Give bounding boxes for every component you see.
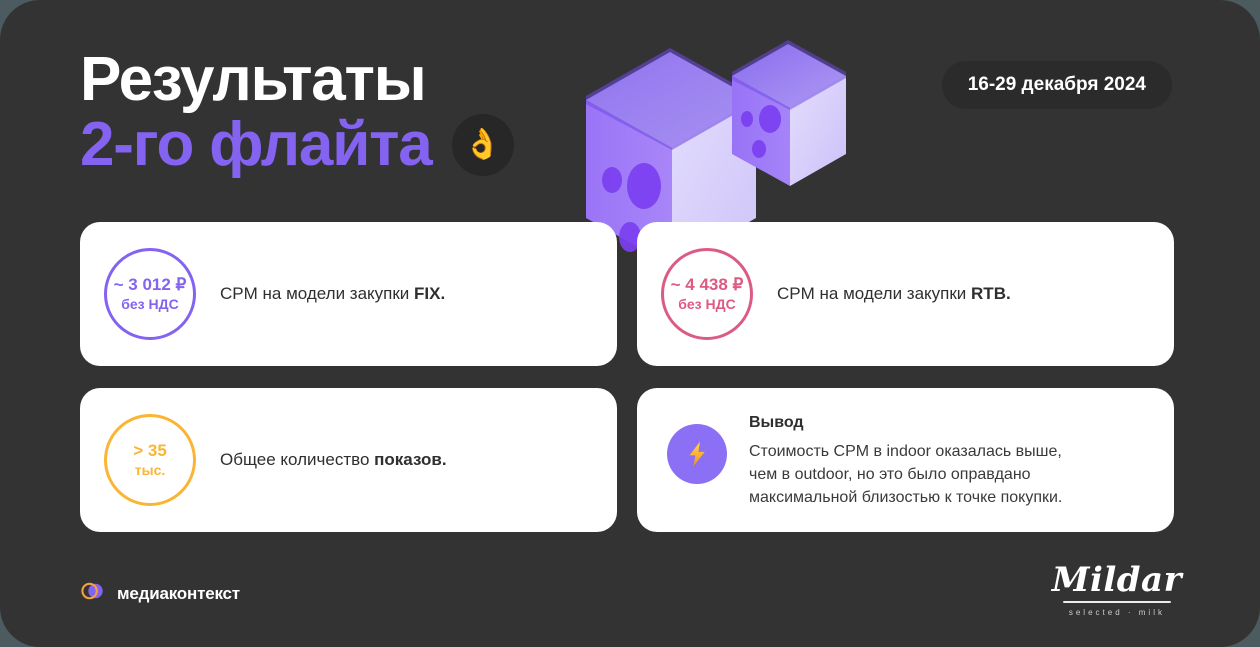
client-logo-block: Mildar selected · milk — [1052, 563, 1182, 617]
metric-value: > 35 — [133, 441, 167, 461]
metric-description-emphasis: FIX. — [414, 284, 445, 303]
metric-description-emphasis: RTB. — [971, 284, 1011, 303]
metric-description-text: CPM на модели закупки — [220, 284, 414, 303]
metric-card-impressions: > 35 тыс. Общее количество показов. — [80, 388, 617, 532]
metric-row: > 35 тыс. Общее количество показов. — [80, 388, 617, 532]
metric-card-rtb: ~ 4 438 ₽ без НДС CPM на модели закупки … — [637, 222, 1174, 366]
metric-note: без НДС — [121, 296, 178, 313]
conclusion-body: Стоимость CPM в indoor оказалась выше, ч… — [749, 440, 1062, 510]
conclusion-title: Вывод — [749, 414, 1062, 432]
overlapping-circles-icon — [80, 578, 106, 609]
slide-root: Результаты 2-го флайта 👌 16-29 декабря 2… — [0, 0, 1260, 647]
metric-description: Общее количество показов. — [220, 449, 447, 472]
metric-description: CPM на модели закупки RTB. — [777, 283, 1011, 306]
metric-description-text: CPM на модели закупки — [777, 284, 971, 303]
ok-hand-icon: 👌 — [452, 114, 514, 176]
metric-note: тыс. — [135, 462, 166, 479]
metric-description: CPM на модели закупки FIX. — [220, 283, 445, 306]
conclusion-card: Вывод Стоимость CPM в indoor оказалась в… — [637, 388, 1174, 532]
metric-value: ~ 3 012 ₽ — [114, 275, 187, 295]
metric-badge-fix: ~ 3 012 ₽ без НДС — [104, 248, 196, 340]
metric-card-fix: ~ 3 012 ₽ без НДС CPM на модели закупки … — [80, 222, 617, 366]
metric-description-text: Общее количество — [220, 450, 374, 469]
metric-badge-rtb: ~ 4 438 ₽ без НДС — [661, 248, 753, 340]
metric-note: без НДС — [678, 296, 735, 313]
conclusion-text-block: Вывод Стоимость CPM в indoor оказалась в… — [749, 414, 1062, 510]
agency-logo-block: медиаконтекст — [80, 578, 240, 609]
client-logo-underline — [1063, 601, 1171, 603]
lightning-bolt-icon — [667, 424, 727, 484]
metric-row: ~ 4 438 ₽ без НДС CPM на модели закупки … — [637, 222, 1174, 366]
title-line-2-row: 2-го флайта 👌 — [80, 113, 514, 176]
title-line-2: 2-го флайта — [80, 113, 432, 176]
metric-value: ~ 4 438 ₽ — [671, 275, 744, 295]
agency-name: медиаконтекст — [117, 584, 240, 604]
client-tagline: selected · milk — [1052, 608, 1182, 617]
conclusion-row: Вывод Стоимость CPM в indoor оказалась в… — [637, 388, 1174, 532]
page-title: Результаты 2-го флайта 👌 — [80, 48, 514, 176]
client-name: Mildar — [1052, 563, 1182, 597]
metric-description-emphasis: показов. — [374, 450, 446, 469]
metric-badge-impressions: > 35 тыс. — [104, 414, 196, 506]
title-line-1: Результаты — [80, 48, 514, 111]
date-range-badge: 16-29 декабря 2024 — [942, 61, 1172, 109]
metric-row: ~ 3 012 ₽ без НДС CPM на модели закупки … — [80, 222, 617, 366]
